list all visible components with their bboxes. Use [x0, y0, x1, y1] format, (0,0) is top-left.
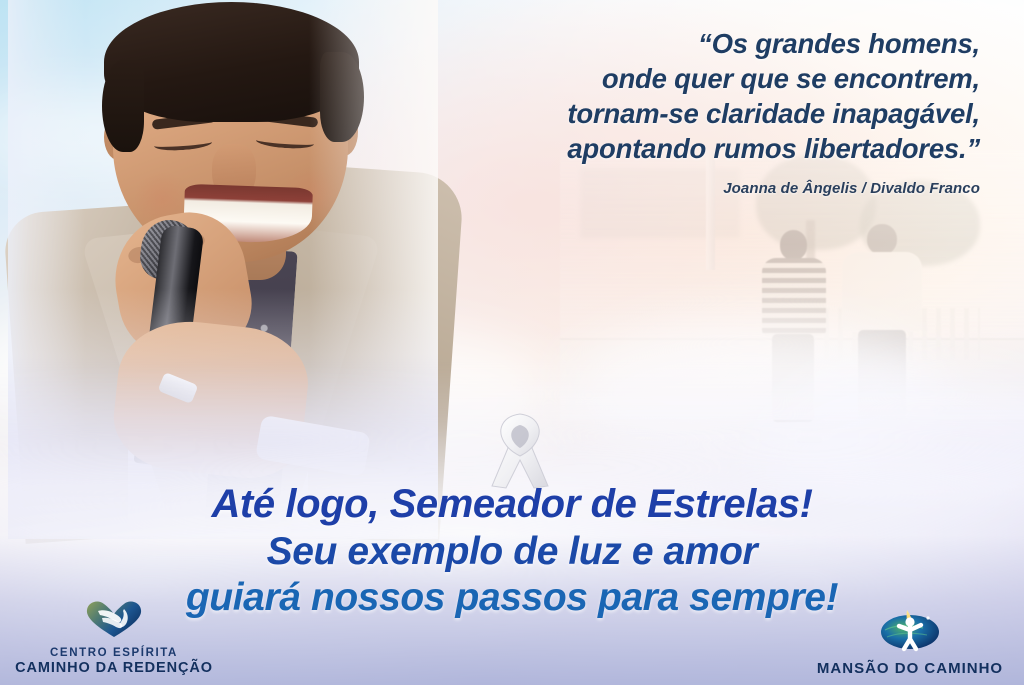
- logo-right-line-2: MANSÃO DO CAMINHO: [817, 660, 1003, 677]
- quote-line-1: “Os grandes homens,: [360, 26, 980, 61]
- logo-left-line-2: CAMINHO DA REDENÇÃO: [15, 660, 213, 677]
- quote-line-3: tornam-se claridade inapagável,: [360, 96, 980, 131]
- logo-left-line-1: CENTRO ESPÍRITA: [50, 647, 178, 660]
- headline-block: Até logo, Semeador de Estrelas! Seu exem…: [0, 484, 1024, 617]
- quote-block: “Os grandes homens, onde quer que se enc…: [360, 26, 980, 197]
- quote-line-4: apontando rumos libertadores.”: [360, 131, 980, 166]
- globe-figure-icon: [879, 608, 941, 657]
- heart-hands-icon: [84, 599, 144, 644]
- logo-centro-espirita[interactable]: CENTRO ESPÍRITA CAMINHO DA REDENÇÃO: [14, 599, 214, 677]
- quote-author: Joanna de Ângelis / Divaldo Franco: [360, 180, 980, 197]
- memorial-poster: “Os grandes homens, onde quer que se enc…: [0, 0, 1024, 685]
- logo-mansao-do-caminho[interactable]: MANSÃO DO CAMINHO: [810, 608, 1010, 677]
- headline-line-2: Seu exemplo de luz e amor: [0, 532, 1024, 571]
- headline-line-1: Até logo, Semeador de Estrelas!: [0, 484, 1024, 524]
- quote-line-2: onde quer que se encontrem,: [360, 61, 980, 96]
